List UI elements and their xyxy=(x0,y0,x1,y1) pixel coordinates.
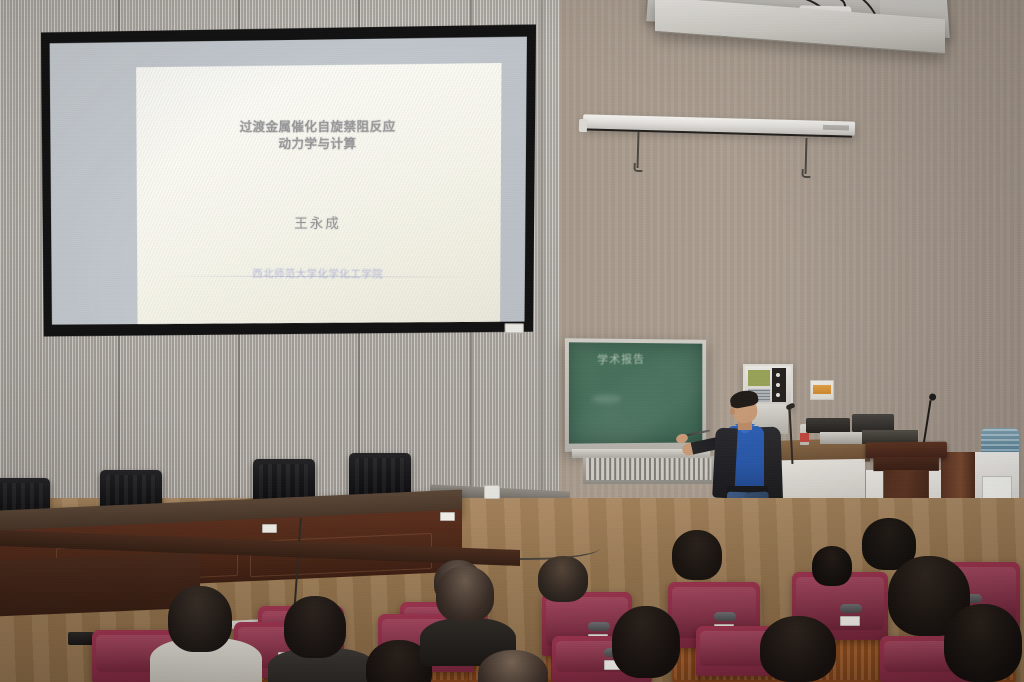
screen-end-cap xyxy=(579,119,587,132)
remote-control xyxy=(68,632,94,645)
chalk-smudge xyxy=(591,395,621,403)
audience-head xyxy=(760,616,836,682)
slide-author: 王永成 xyxy=(136,212,501,233)
slide-title-line-1: 过渡金属催化自旋禁阻反应 xyxy=(136,117,501,135)
blackboard-surface: 学术报告 xyxy=(569,342,702,443)
cabinet-green-panel xyxy=(748,370,770,386)
audience-head xyxy=(812,546,852,586)
seat-number-plate xyxy=(840,604,862,613)
slide-divider xyxy=(166,276,471,278)
seat-number-plate xyxy=(714,612,736,621)
seat-number-plate xyxy=(588,622,610,631)
table-label xyxy=(262,524,277,533)
screen-brand-label xyxy=(505,323,524,333)
audience-head xyxy=(436,566,494,622)
table-label xyxy=(440,512,455,521)
audience-head xyxy=(944,604,1022,682)
safety-sign xyxy=(810,380,834,400)
presentation-slide: 过渡金属催化自旋禁阻反应 动力学与计算 王永成 西北师范大学化学化工学院 xyxy=(136,63,501,327)
cabinet-indicator-dot xyxy=(776,383,780,387)
wall-corner xyxy=(540,0,547,520)
audience-head xyxy=(284,596,346,658)
audience-head xyxy=(612,606,680,678)
amplifier-unit xyxy=(806,418,850,433)
audience-head xyxy=(672,530,722,580)
screen-surface: 过渡金属催化自旋禁阻反应 动力学与计算 王永成 西北师范大学化学化工学院 xyxy=(50,37,527,328)
presenter-ear xyxy=(730,408,735,415)
blackboard-chalk-text: 学术报告 xyxy=(597,350,645,367)
slide-organization: 西北师范大学化学化工学院 xyxy=(136,265,501,281)
screen-logo xyxy=(823,125,849,131)
slide-title: 过渡金属催化自旋禁阻反应 动力学与计算 xyxy=(136,117,501,152)
lecture-hall-photo: 过渡金属催化自旋禁阻反应 动力学与计算 王永成 西北师范大学化学化工学院 学术报… xyxy=(0,0,1024,682)
audience-head xyxy=(538,556,588,602)
audience-head xyxy=(168,586,232,652)
seat-label xyxy=(840,616,860,626)
cabinet-indicator-dot xyxy=(776,373,780,377)
wall-outlet[interactable] xyxy=(484,485,500,499)
podium-middle xyxy=(873,457,939,471)
projection-screen: 过渡金属催化自旋禁阻反应 动力学与计算 王永成 西北师范大学化学化工学院 xyxy=(41,24,536,339)
podium-top xyxy=(866,442,947,459)
mixer-unit xyxy=(820,432,868,444)
slide-title-line-2: 动力学与计算 xyxy=(136,135,501,153)
